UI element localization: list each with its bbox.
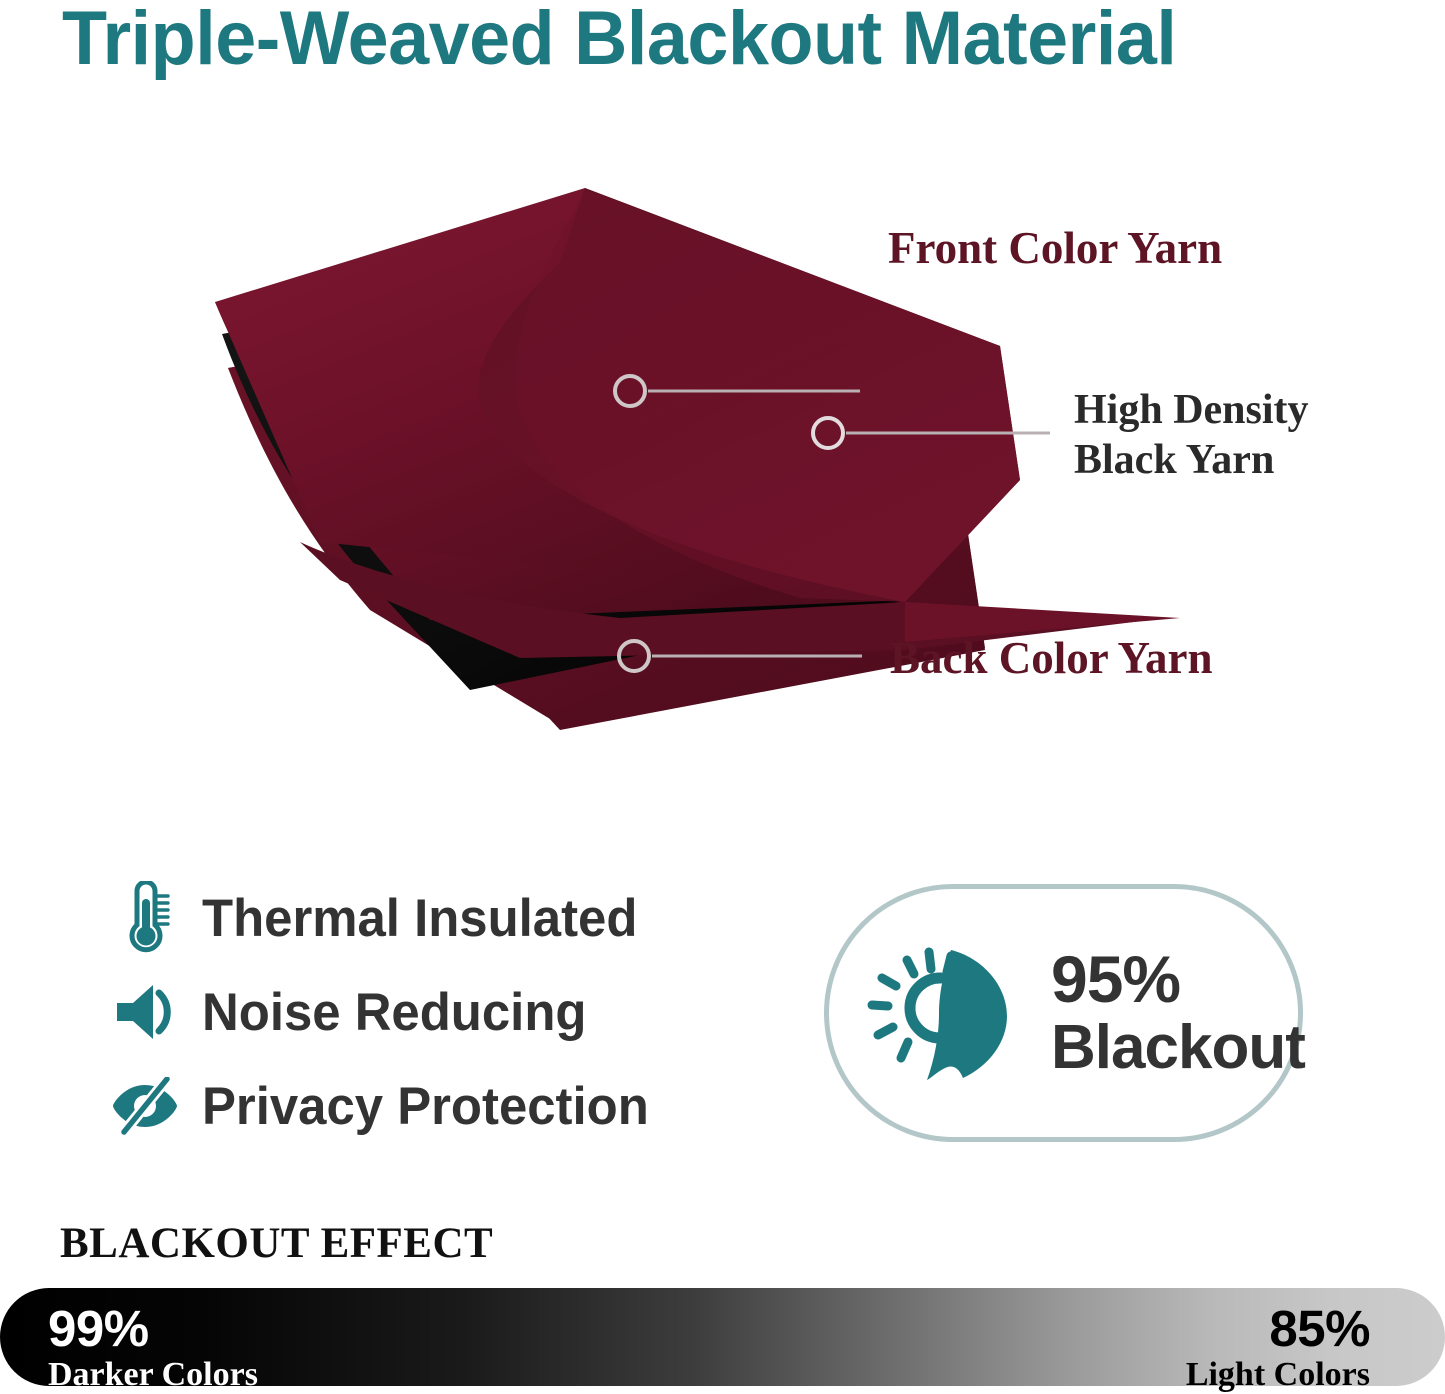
callout-label-front: Front Color Yarn	[888, 222, 1222, 274]
sun-blocked-by-curtain-icon	[865, 938, 1035, 1088]
callout-label-back: Back Color Yarn	[890, 632, 1213, 684]
page-title: Triple-Weaved Blackout Material	[62, 0, 1362, 82]
stat-percent: 99%	[48, 1302, 258, 1356]
stat-darker-colors: 99% Darker Colors	[48, 1302, 258, 1394]
stat-caption: Light Colors	[1186, 1356, 1370, 1394]
callout-label-black-line1: High Density	[1074, 385, 1309, 435]
feature-item-noise-reducing: Noise Reducing	[106, 966, 746, 1058]
callout-label-black-line2: Black Yarn	[1074, 435, 1309, 485]
feature-label: Noise Reducing	[202, 982, 586, 1043]
eye-off-icon	[106, 1077, 184, 1135]
stat-light-colors: 85% Light Colors	[1186, 1302, 1370, 1394]
feature-label: Thermal Insulated	[202, 888, 637, 949]
feature-list: Thermal Insulated Noise Reducing Privacy…	[106, 872, 746, 1154]
blackout-effect-title: BLACKOUT EFFECT	[60, 1219, 493, 1268]
stat-percent: 85%	[1186, 1302, 1370, 1356]
feature-item-thermal-insulated: Thermal Insulated	[106, 872, 746, 964]
blackout-percentage-badge: 95% Blackout	[824, 884, 1303, 1142]
speaker-icon	[106, 981, 184, 1043]
callout-label-black-yarn: High Density Black Yarn	[1074, 385, 1309, 485]
badge-word: Blackout	[1051, 1015, 1305, 1081]
badge-percent: 95%	[1051, 945, 1305, 1015]
feature-item-privacy-protection: Privacy Protection	[106, 1060, 746, 1152]
stat-caption: Darker Colors	[48, 1356, 258, 1394]
badge-text: 95% Blackout	[1051, 945, 1305, 1081]
thermometer-icon	[106, 881, 184, 955]
feature-label: Privacy Protection	[202, 1076, 649, 1137]
